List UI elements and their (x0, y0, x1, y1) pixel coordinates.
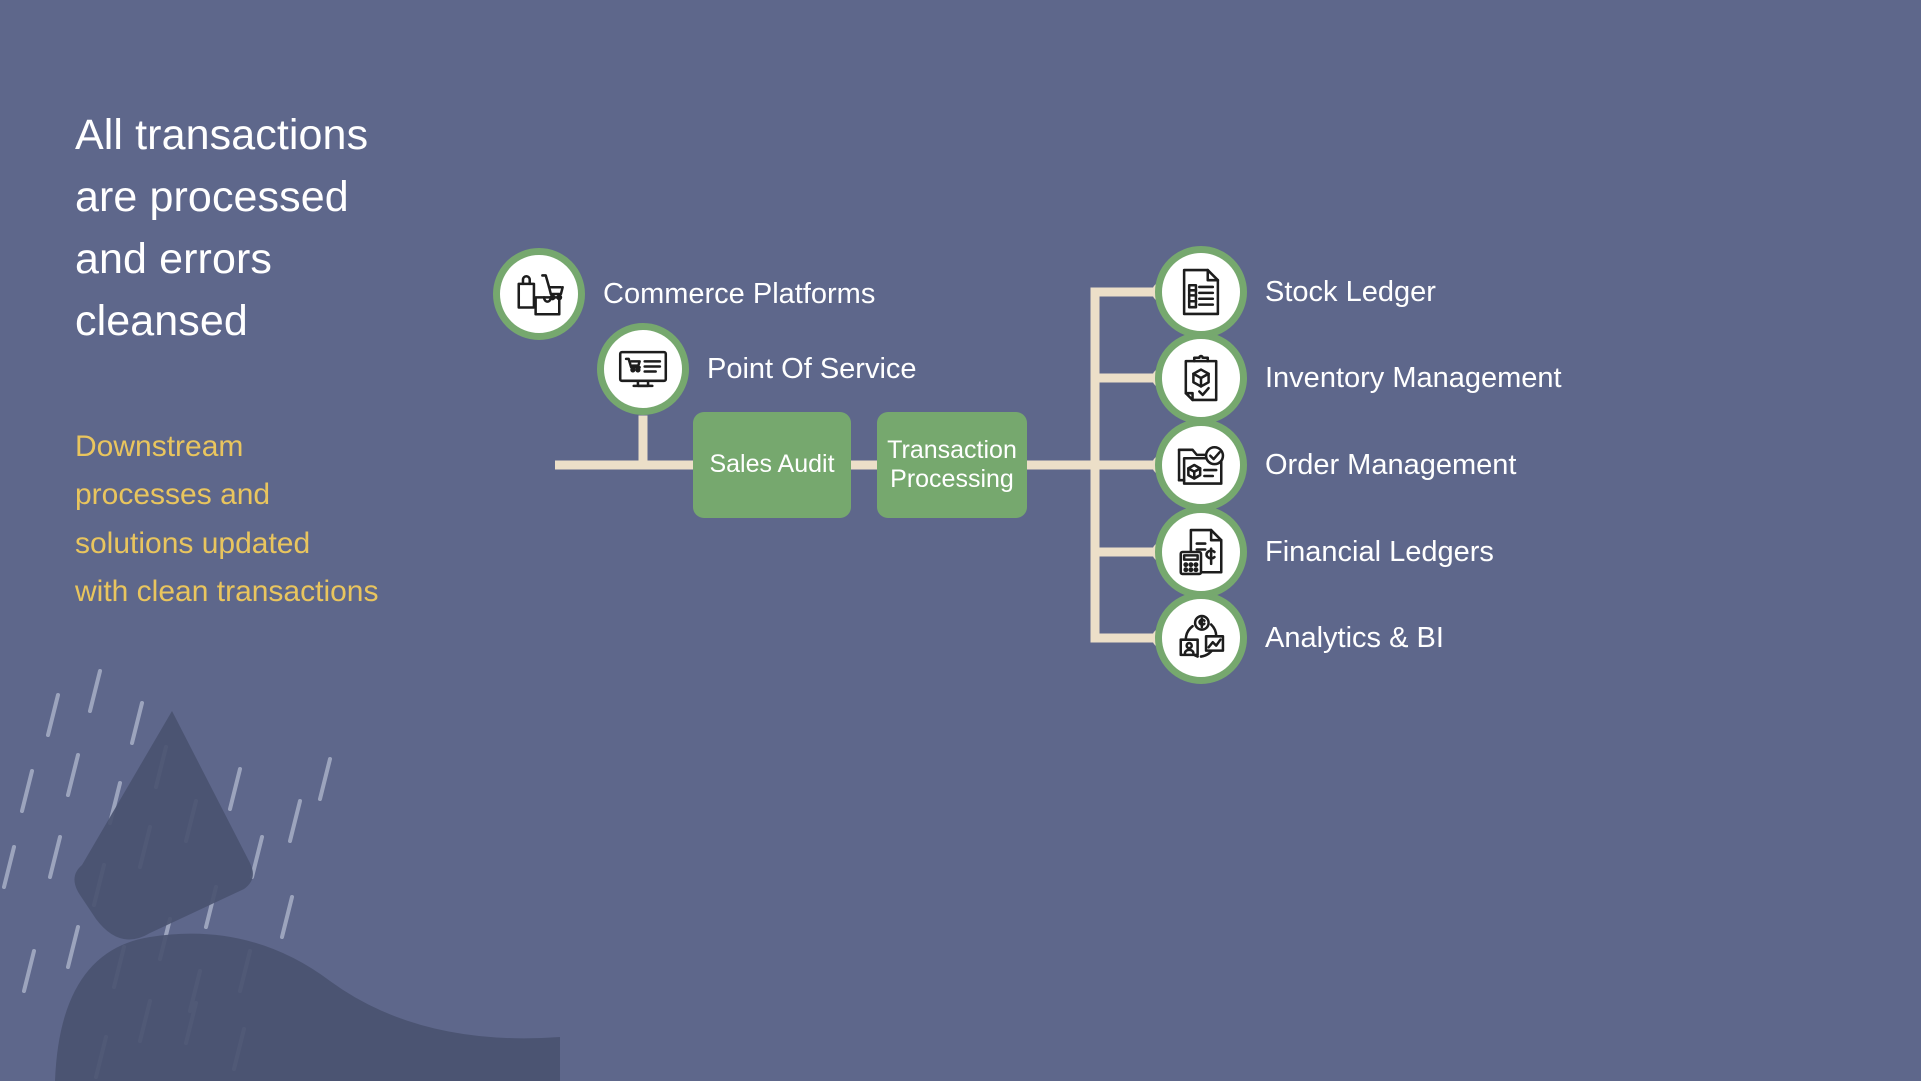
process-box-label: Sales Audit (709, 450, 834, 480)
node-label: Analytics & BI (1265, 624, 1444, 653)
text-block: All transactions are processed and error… (75, 105, 505, 617)
node-label: Order Management (1265, 451, 1516, 480)
subcopy-text: Downstream processes and solutions updat… (75, 423, 505, 617)
node-label: Inventory Management (1265, 364, 1562, 393)
node-label: Commerce Platforms (603, 280, 875, 309)
process-box-label: Transaction Processing (887, 436, 1017, 495)
clipboard-box-check-icon (1155, 332, 1247, 424)
shopping-bags-cart-icon (493, 248, 585, 340)
monitor-cart-icon (597, 323, 689, 415)
node-inventory-management[interactable]: Inventory Management (1155, 332, 1562, 424)
decorative-mountain-rain-graphic (0, 651, 560, 1081)
page-title: All transactions are processed and error… (75, 105, 505, 353)
slide-canvas: All transactions are processed and error… (0, 0, 1921, 1081)
node-label: Stock Ledger (1265, 278, 1436, 307)
node-order-management[interactable]: Order Management (1155, 419, 1516, 511)
node-analytics-bi[interactable]: Analytics & BI (1155, 592, 1444, 684)
process-box-sales-audit[interactable]: Sales Audit (693, 412, 851, 518)
node-label: Financial Ledgers (1265, 538, 1494, 567)
node-label: Point Of Service (707, 355, 917, 384)
invoice-calculator-icon (1155, 506, 1247, 598)
document-list-icon (1155, 246, 1247, 338)
node-financial-ledgers[interactable]: Financial Ledgers (1155, 506, 1494, 598)
cycle-dollar-chart-icon (1155, 592, 1247, 684)
folder-box-check-icon (1155, 419, 1247, 511)
process-box-transaction-processing[interactable]: Transaction Processing (877, 412, 1027, 518)
node-point-of-service[interactable]: Point Of Service (597, 323, 917, 415)
process-flow-diagram: Commerce Platforms Point Of Service (555, 280, 1875, 820)
node-stock-ledger[interactable]: Stock Ledger (1155, 246, 1436, 338)
